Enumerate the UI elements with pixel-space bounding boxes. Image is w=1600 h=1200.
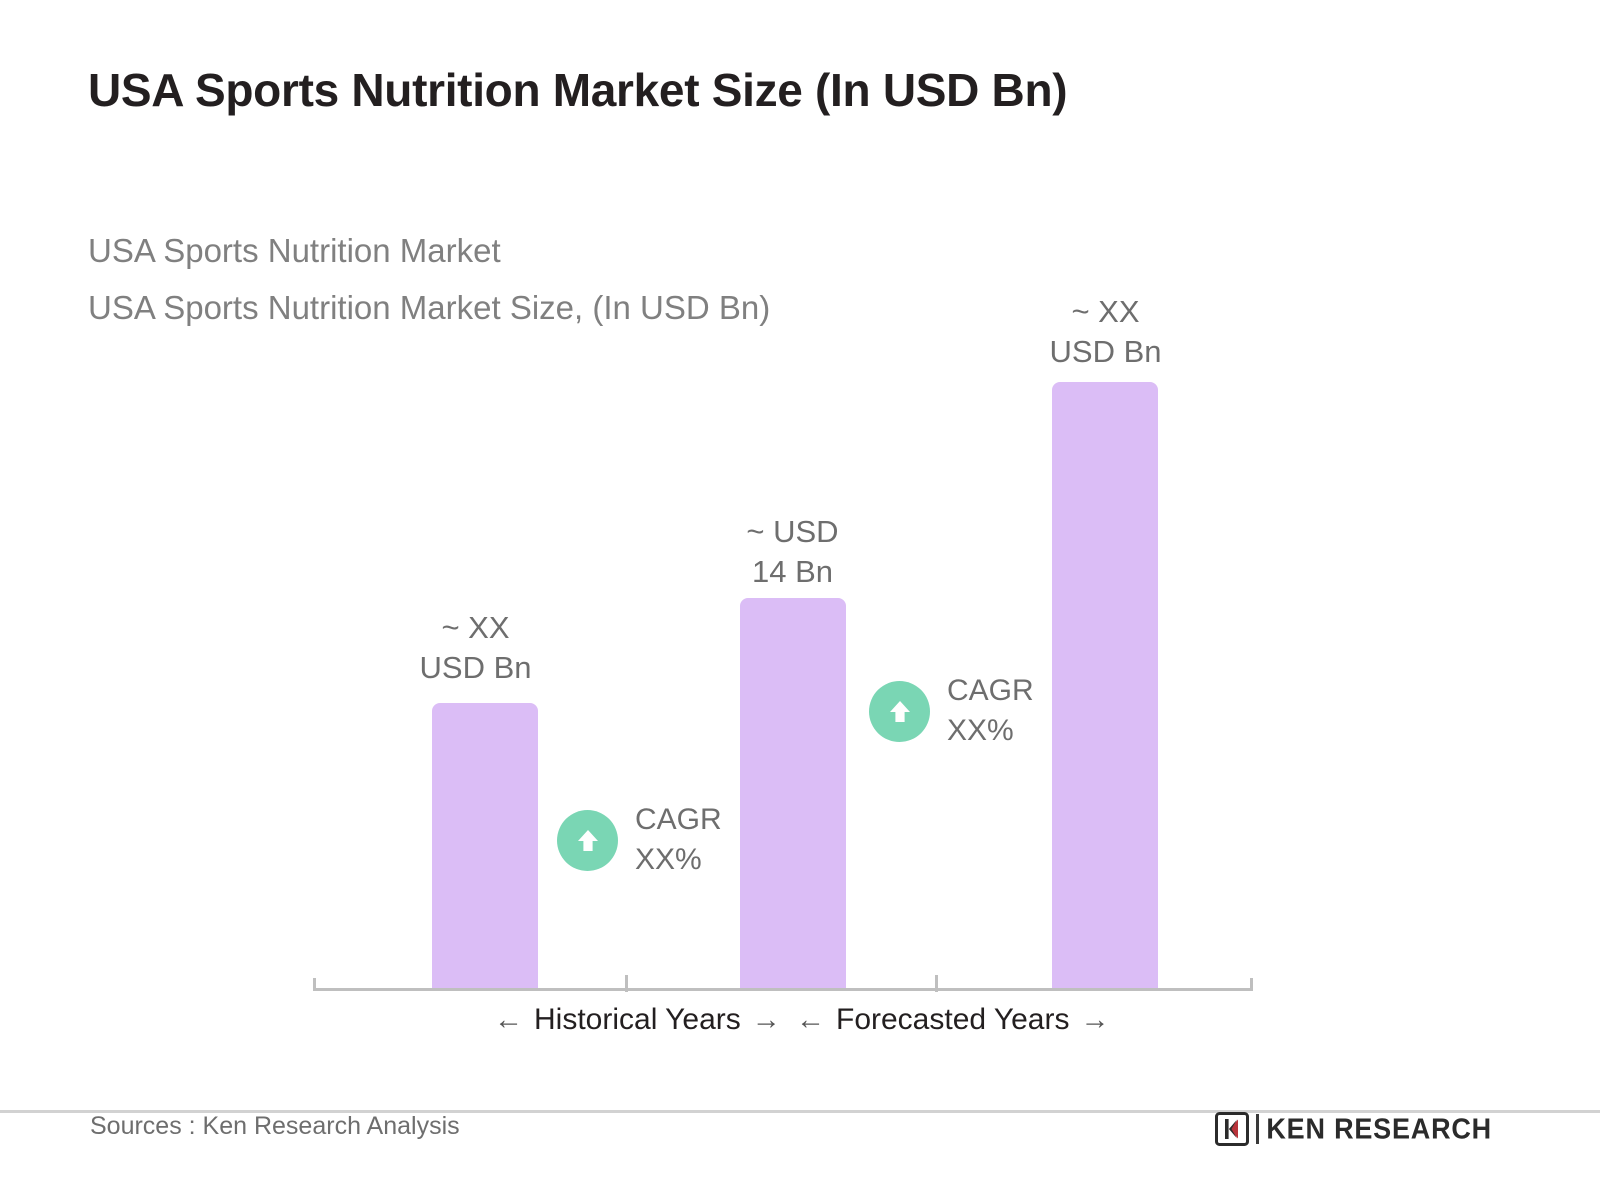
right-arrow-icon: → [752, 1006, 781, 1035]
axis-tick-mid-1 [625, 975, 628, 992]
bar-value-label-1: ~ XX USD Bn [398, 608, 553, 688]
up-arrow-icon [869, 681, 930, 742]
logo-divider [1256, 1114, 1259, 1144]
x-axis-line [313, 988, 1253, 991]
cagr-annotation-2: CAGR XX% [869, 671, 1034, 751]
axis-tick-start [313, 978, 316, 991]
cagr-annotation-1-line1: CAGR [635, 800, 722, 840]
ken-research-logo-mark [1215, 1112, 1249, 1146]
ken-research-logo: KEN RESEARCH [1215, 1112, 1492, 1146]
footer-source-text: Sources : Ken Research Analysis [90, 1112, 460, 1141]
slide-canvas: USA Sports Nutrition Market Size (In USD… [0, 0, 1600, 1200]
cagr-annotation-2-line2: XX% [947, 711, 1034, 751]
axis-segment-forecasted-label: Forecasted Years [836, 1003, 1069, 1037]
cagr-annotation-2-text: CAGR XX% [947, 671, 1034, 751]
axis-segment-forecasted: ← Forecasted Years → [796, 1003, 1109, 1037]
cagr-annotation-1-line2: XX% [635, 840, 722, 880]
bar-3[interactable] [1052, 382, 1158, 989]
bar-chart: ~ XX USD Bn ~ USD 14 Bn ~ XX USD Bn CAGR [0, 0, 1600, 1200]
bar-value-label-3-line1: ~ XX [1027, 292, 1184, 332]
up-arrow-icon [557, 810, 618, 871]
axis-segment-historical-label: Historical Years [534, 1003, 741, 1037]
cagr-annotation-1-text: CAGR XX% [635, 800, 722, 880]
axis-tick-end [1250, 978, 1253, 991]
bar-value-label-2-line2: 14 Bn [705, 552, 880, 592]
ken-research-logo-text: KEN RESEARCH [1266, 1113, 1492, 1146]
bar-value-label-3: ~ XX USD Bn [1027, 292, 1184, 372]
axis-tick-mid-2 [935, 975, 938, 992]
left-arrow-icon: ← [796, 1006, 825, 1035]
bar-value-label-3-line2: USD Bn [1027, 332, 1184, 372]
right-arrow-icon: → [1080, 1006, 1109, 1035]
left-arrow-icon: ← [494, 1006, 523, 1035]
cagr-annotation-1: CAGR XX% [557, 800, 722, 880]
bar-value-label-1-line1: ~ XX [398, 608, 553, 648]
cagr-annotation-2-line1: CAGR [947, 671, 1034, 711]
axis-segment-historical: ← Historical Years → [494, 1003, 781, 1037]
bar-value-label-2: ~ USD 14 Bn [705, 512, 880, 592]
bar-1[interactable] [432, 703, 538, 989]
bar-value-label-1-line2: USD Bn [398, 648, 553, 688]
bar-2[interactable] [740, 598, 846, 989]
bar-value-label-2-line1: ~ USD [705, 512, 880, 552]
